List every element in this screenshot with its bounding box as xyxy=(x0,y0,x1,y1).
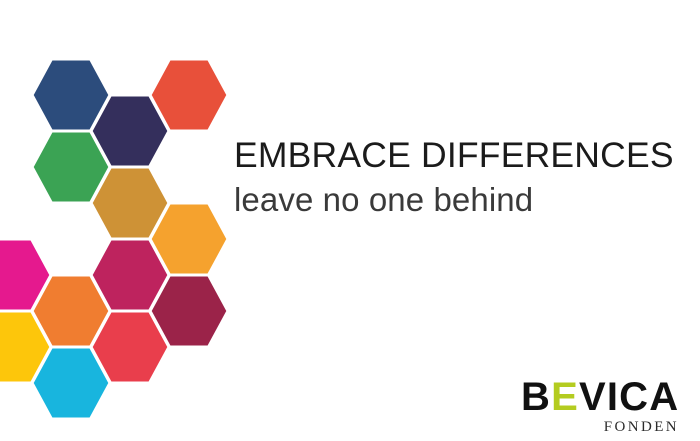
logo-letter-b: B xyxy=(521,375,551,419)
logo-letters-vica: VICA xyxy=(579,375,679,419)
logo-wordmark: BEVICA xyxy=(521,377,681,417)
headline-block: EMBRACE DIFFERENCES leave no one behind xyxy=(234,136,674,219)
hexagon-cluster-graphic xyxy=(0,0,240,441)
headline-primary: EMBRACE DIFFERENCES xyxy=(234,136,674,174)
bevica-fonden-logo: BEVICA FONDEN xyxy=(521,377,681,436)
headline-secondary: leave no one behind xyxy=(234,182,674,219)
logo-letter-e-accent: E xyxy=(551,375,579,419)
slide-canvas: EMBRACE DIFFERENCES leave no one behind … xyxy=(0,0,700,441)
logo-subtitle: FONDEN xyxy=(521,419,681,436)
hexagon-cluster-svg xyxy=(0,0,240,441)
